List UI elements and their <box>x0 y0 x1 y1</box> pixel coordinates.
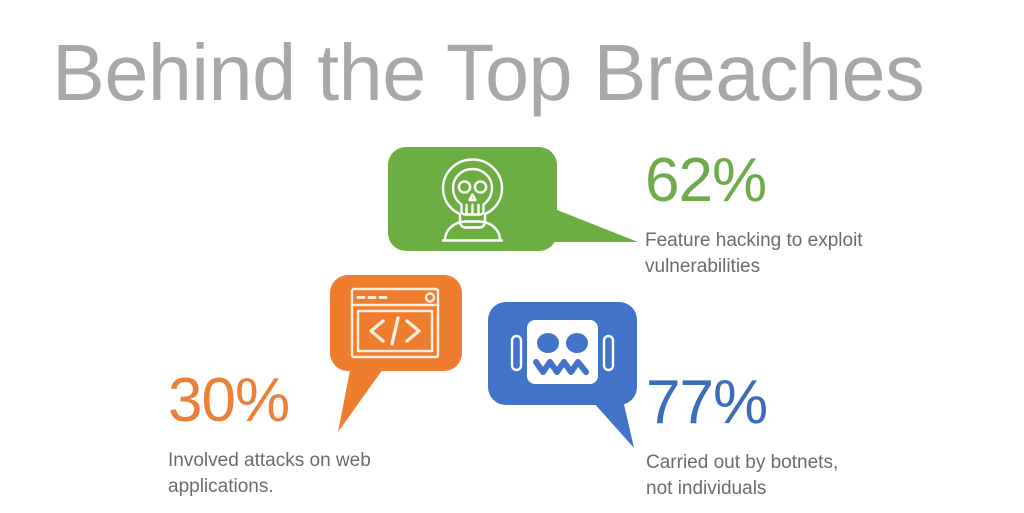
stat-hacking-value: 62% <box>645 148 863 214</box>
stat-web-applications: 30% Involved attacks on web applications… <box>168 368 371 500</box>
robot-bot-icon <box>512 320 613 384</box>
stat-web-applications-caption: Involved attacks on web applications. <box>168 448 371 500</box>
bubble-botnets <box>482 296 657 461</box>
page-title: Behind the Top Breaches <box>52 26 924 120</box>
stat-hacking: 62% Feature hacking to exploit vulnerabi… <box>645 148 863 280</box>
stat-botnets: 77% Carried out by botnets, not individu… <box>646 370 838 502</box>
stat-web-applications-value: 30% <box>168 368 371 434</box>
stat-hacking-caption: Feature hacking to exploit vulnerabiliti… <box>645 228 863 280</box>
bubble-hacking-shape <box>382 142 652 262</box>
stat-botnets-value: 77% <box>646 370 838 436</box>
stat-botnets-caption: Carried out by botnets, not individuals <box>646 450 838 502</box>
infographic-canvas: Behind the Top Breaches <box>0 0 1024 513</box>
bubble-hacking <box>382 142 652 262</box>
bubble-botnets-shape <box>482 296 657 461</box>
